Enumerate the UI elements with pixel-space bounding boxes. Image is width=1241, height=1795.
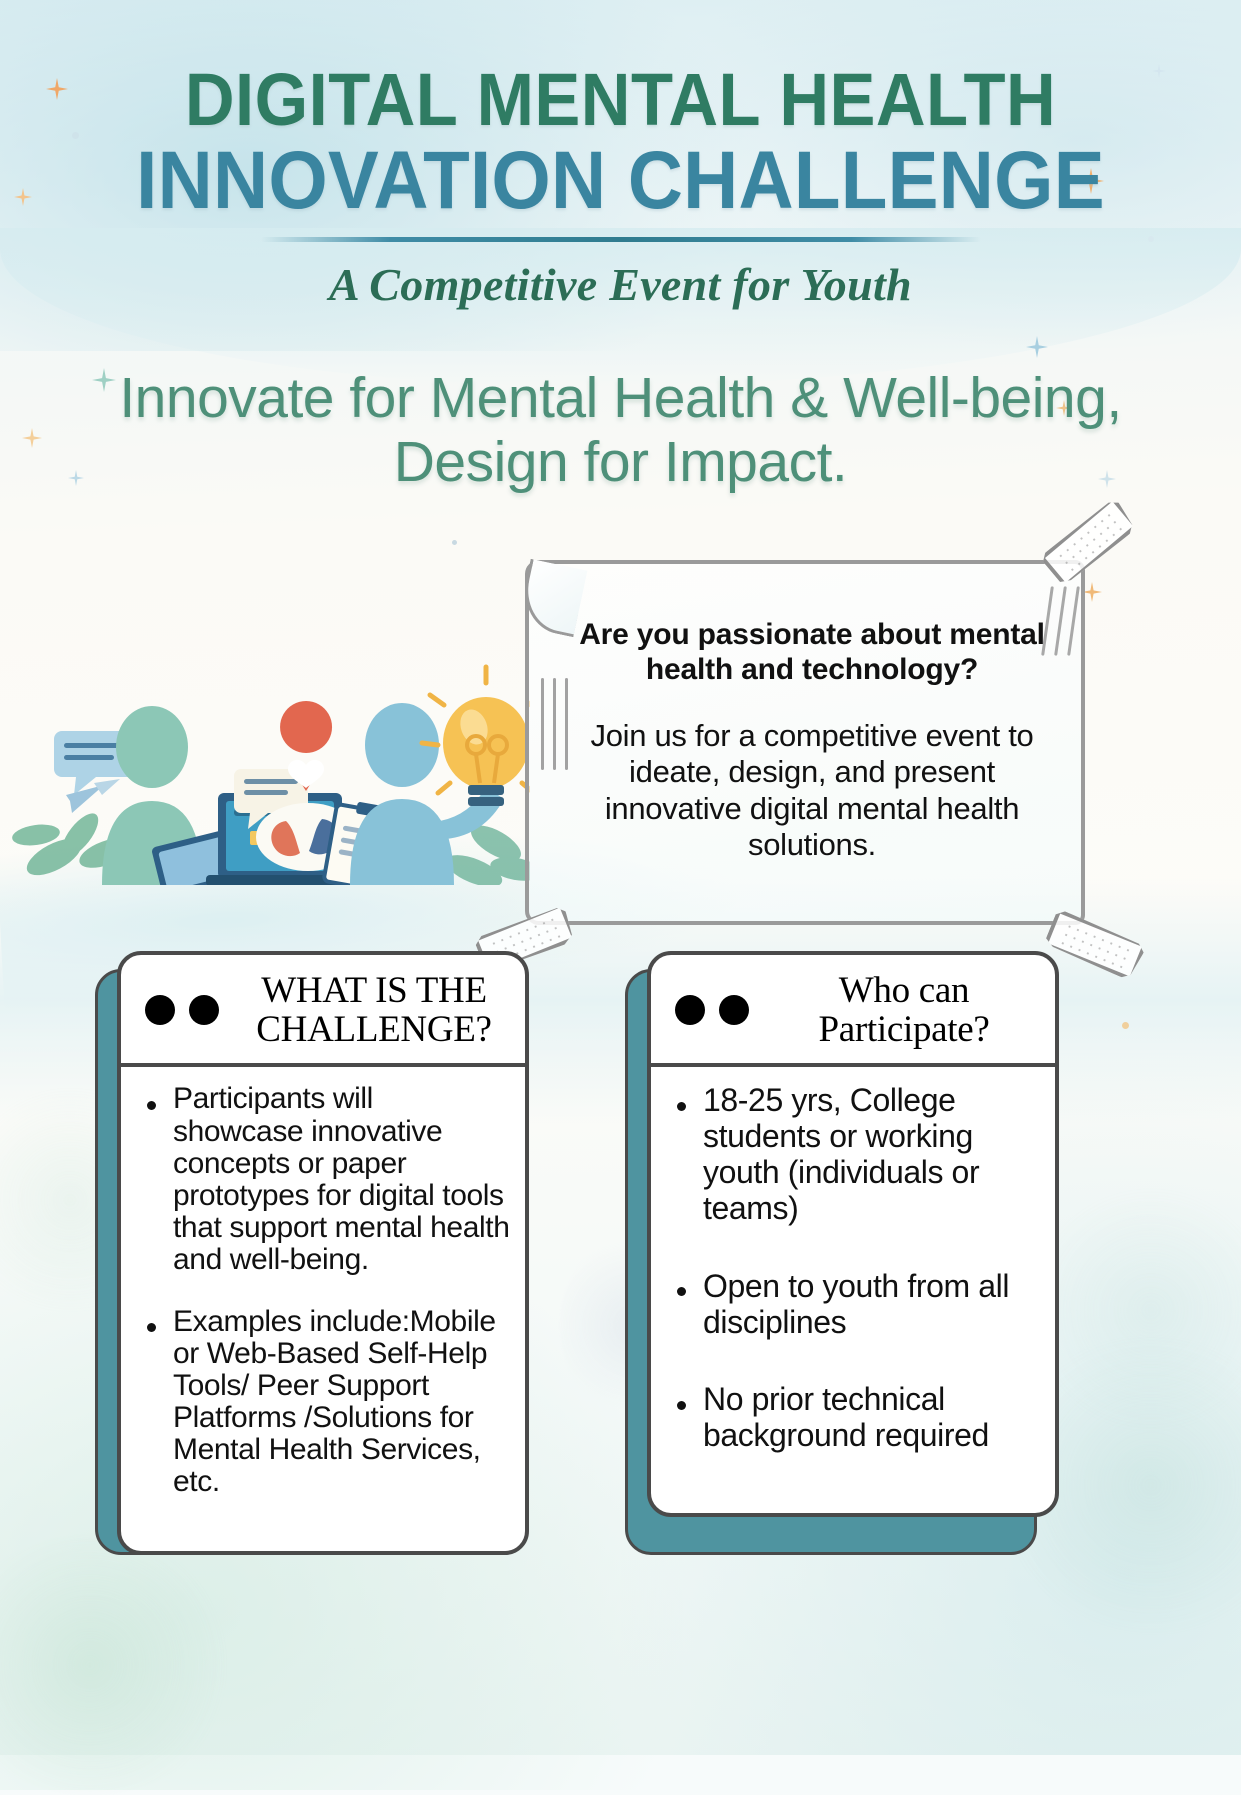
list-item: No prior technical background required (669, 1382, 1041, 1454)
people-laptop-lightbulb-icon (10, 585, 530, 885)
challenge-card-title: WHAT IS THE CHALLENGE? (239, 971, 509, 1049)
two-dots-icon (145, 995, 219, 1025)
participate-card: Who can Participate? 18-25 yrs, College … (647, 951, 1059, 1517)
list-item: Open to youth from all disciplines (669, 1269, 1041, 1341)
two-dots-icon (675, 995, 749, 1025)
poster-title-line-1: DIGITAL MENTAL HEALTH (43, 62, 1197, 137)
list-item: 18-25 yrs, College students or working y… (669, 1083, 1041, 1226)
poster-subtitle: A Competitive Event for Youth (0, 258, 1241, 311)
hero-illustration (10, 585, 530, 885)
poster-tagline: Innovate for Mental Health & Well-being,… (0, 367, 1241, 495)
poster-title-line-2: INNOVATION CHALLENGE (43, 139, 1197, 223)
participate-card-title: Who can Participate? (769, 971, 1039, 1049)
challenge-card-body: Participants will showcase innovative co… (121, 1067, 525, 1538)
list-item: Examples include:Mobile or Web-Based Sel… (139, 1306, 511, 1499)
challenge-card-header: WHAT IS THE CHALLENGE? (121, 955, 525, 1067)
note-paragraph: Join us for a competitive event to ideat… (565, 718, 1059, 864)
challenge-card: WHAT IS THE CHALLENGE? Participants will… (117, 951, 529, 1555)
info-cards-section: WHAT IS THE CHALLENGE? Participants will… (0, 935, 1241, 1575)
list-item: Participants will showcase innovative co… (139, 1083, 511, 1276)
intro-note-card: Are you passionate about mental health a… (525, 560, 1085, 925)
poster-header: DIGITAL MENTAL HEALTH INNOVATION CHALLEN… (0, 0, 1241, 495)
title-underline-rule (261, 237, 981, 242)
sparkle-icon (1082, 582, 1102, 602)
note-question: Are you passionate about mental health a… (565, 618, 1059, 688)
decorative-dot (452, 540, 457, 545)
note-content: Are you passionate about mental health a… (565, 618, 1059, 864)
challenge-bullet-list: Participants will showcase innovative co… (139, 1083, 511, 1498)
participate-card-header: Who can Participate? (651, 955, 1055, 1067)
participate-card-body: 18-25 yrs, College students or working y… (651, 1067, 1055, 1506)
participate-bullet-list: 18-25 yrs, College students or working y… (669, 1083, 1041, 1454)
